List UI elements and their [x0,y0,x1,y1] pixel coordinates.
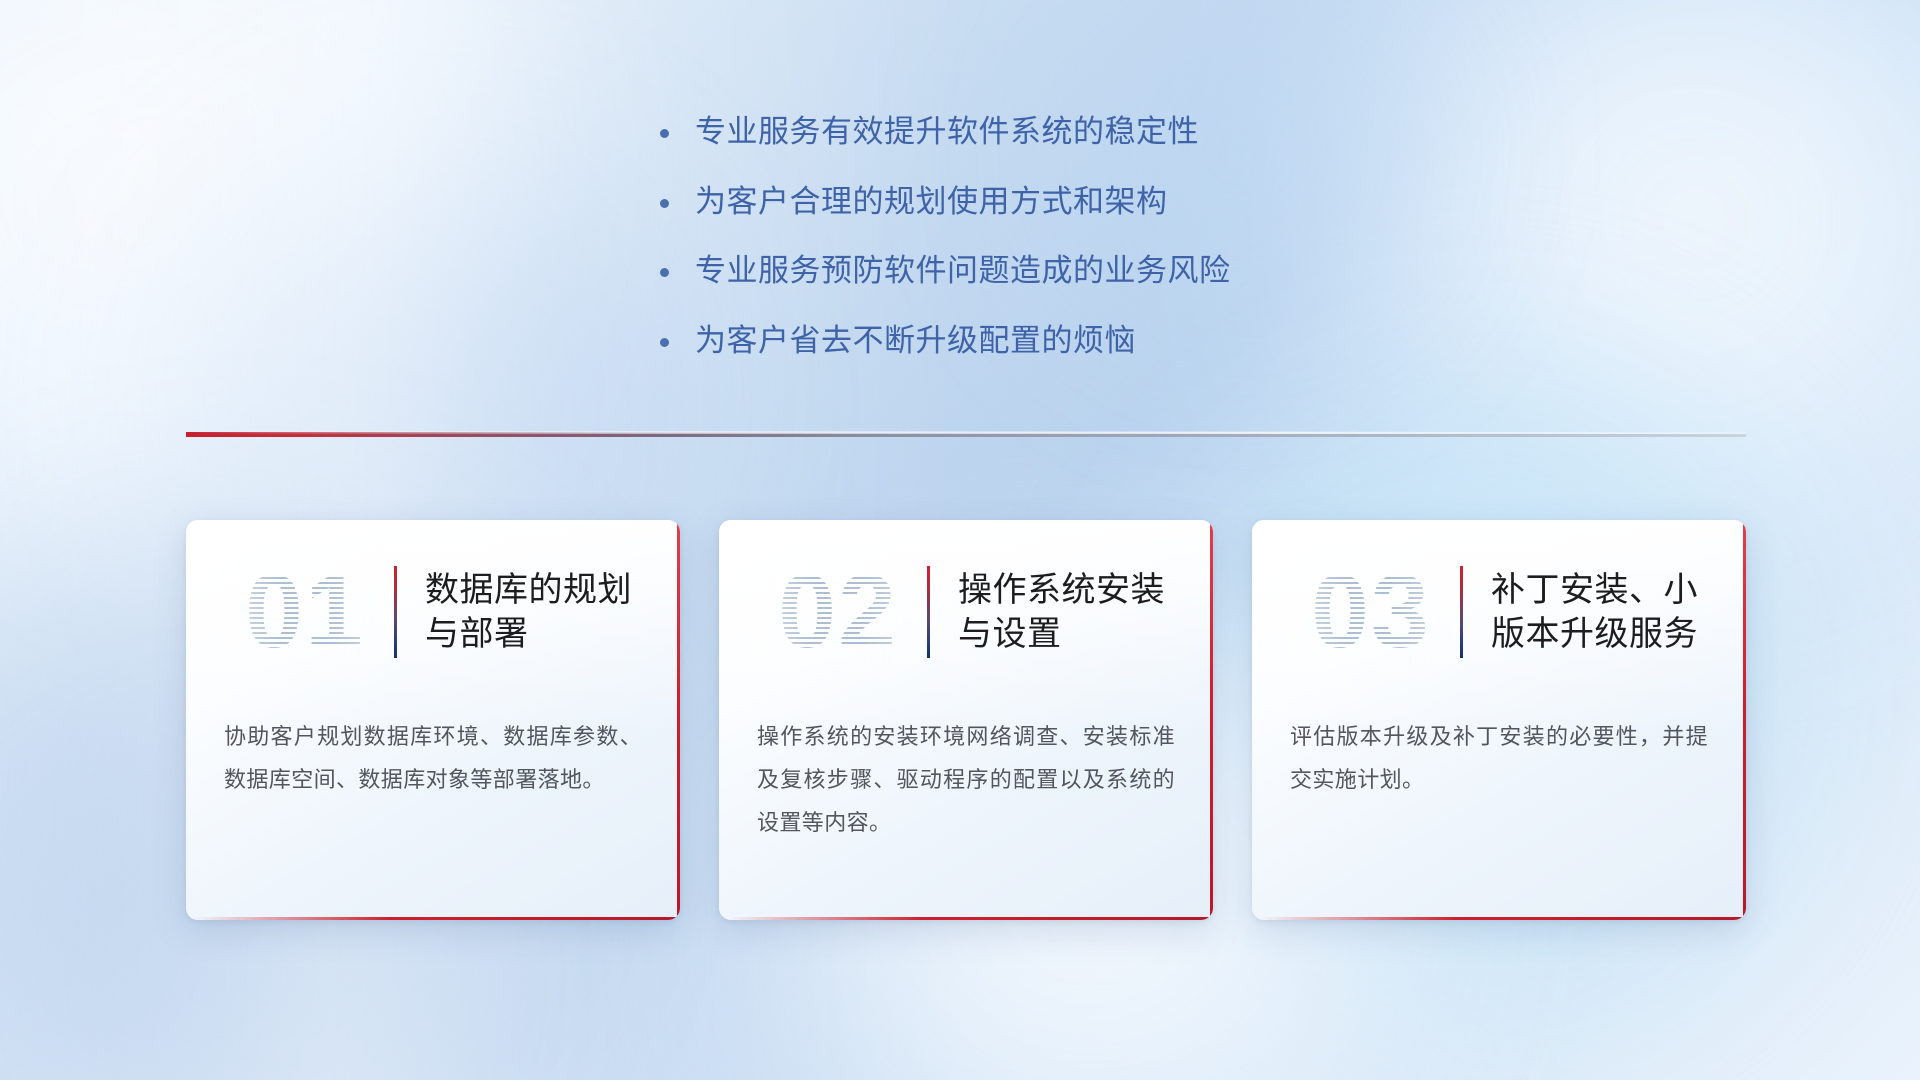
card-accent-bottom [196,917,680,920]
bullet-text: 专业服务预防软件问题造成的业务风险 [695,251,1231,291]
section-divider [186,430,1746,444]
card-title: 补丁安装、小版本升级服务 [1491,568,1746,656]
bullet-text: 为客户省去不断升级配置的烦恼 [695,321,1136,361]
service-card-group: 01 数据库的规划与部署 协助客户规划数据库环境、数据库参数、数据库空间、数据库… [186,520,1746,920]
card-divider-bar [927,566,930,658]
list-item: 为客户省去不断升级配置的烦恼 [660,321,1420,361]
card-number: 01 [220,560,390,664]
list-item: 专业服务有效提升软件系统的稳定性 [660,112,1420,152]
bullet-text: 专业服务有效提升软件系统的稳定性 [695,112,1199,152]
bullet-dot-icon [660,268,669,277]
divider-gloss [186,430,1746,434]
bullet-dot-icon [660,338,669,347]
card-accent-bottom [1262,917,1746,920]
service-card-03[interactable]: 03 补丁安装、小版本升级服务 评估版本升级及补丁安装的必要性，并提交实施计划。 [1252,520,1746,920]
card-accent-bottom [729,917,1213,920]
card-body-text: 操作系统的安装环境网络调查、安装标准及复核步骤、驱动程序的配置以及系统的设置等内… [757,716,1175,845]
benefits-bullet-list: 专业服务有效提升软件系统的稳定性 为客户合理的规划使用方式和架构 专业服务预防软… [660,112,1420,361]
card-header: 03 补丁安装、小版本升级服务 [1252,538,1746,686]
card-number: 02 [753,560,923,664]
card-number: 03 [1286,560,1456,664]
card-title: 操作系统安装与设置 [958,568,1213,656]
bullet-dot-icon [660,199,669,208]
card-body-text: 协助客户规划数据库环境、数据库参数、数据库空间、数据库对象等部署落地。 [224,716,642,802]
service-card-02[interactable]: 02 操作系统安装与设置 操作系统的安装环境网络调查、安装标准及复核步骤、驱动程… [719,520,1213,920]
card-body-text: 评估版本升级及补丁安装的必要性，并提交实施计划。 [1290,716,1708,802]
service-card-01[interactable]: 01 数据库的规划与部署 协助客户规划数据库环境、数据库参数、数据库空间、数据库… [186,520,680,920]
bullet-text: 为客户合理的规划使用方式和架构 [695,182,1168,222]
card-divider-bar [394,566,397,658]
card-divider-bar [1460,566,1463,658]
bullet-dot-icon [660,129,669,138]
list-item: 专业服务预防软件问题造成的业务风险 [660,251,1420,291]
card-header: 02 操作系统安装与设置 [719,538,1213,686]
list-item: 为客户合理的规划使用方式和架构 [660,182,1420,222]
card-title: 数据库的规划与部署 [425,568,680,656]
card-header: 01 数据库的规划与部署 [186,538,680,686]
